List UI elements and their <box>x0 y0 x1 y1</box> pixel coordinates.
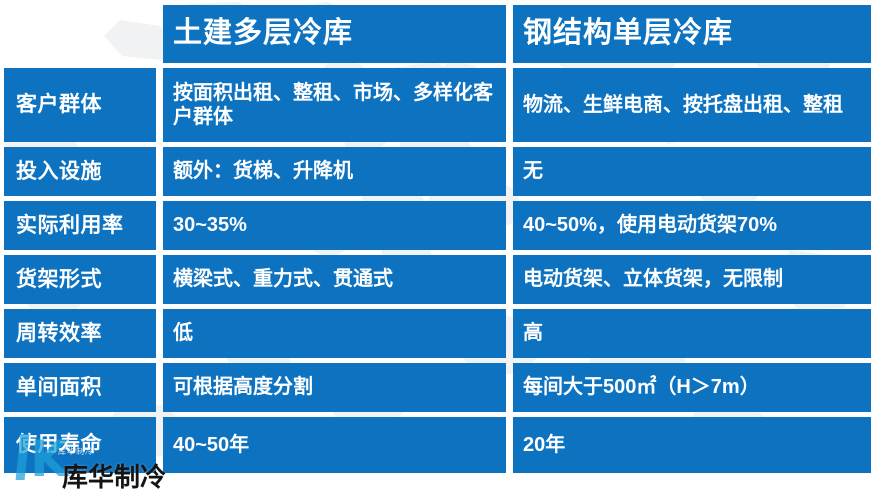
cell-room-area-steel: 每间大于500㎡（H＞7m） <box>513 363 871 412</box>
header-corner-cell <box>4 5 156 63</box>
cell-facility-investment-concrete: 额外：货梯、升降机 <box>163 147 506 196</box>
row-label-facility-investment: 投入设施 <box>4 147 156 196</box>
header-col-concrete: 土建多层冷库 <box>163 5 506 63</box>
cell-turnover-efficiency-steel: 高 <box>513 309 871 358</box>
header-col-steel: 钢结构单层冷库 <box>513 5 871 63</box>
row-label-room-area: 单间面积 <box>4 363 156 412</box>
cell-turnover-efficiency-concrete: 低 <box>163 309 506 358</box>
row-label-service-life: 使用寿命 <box>4 417 156 473</box>
row-label-customer-group: 客户群体 <box>4 68 156 142</box>
cell-room-area-concrete: 可根据高度分割 <box>163 363 506 412</box>
cell-facility-investment-steel: 无 <box>513 147 871 196</box>
cell-rack-type-steel: 电动货架、立体货架，无限制 <box>513 255 871 304</box>
cell-service-life-steel: 20年 <box>513 417 871 473</box>
cell-customer-group-concrete: 按面积出租、整租、市场、多样化客户群体 <box>163 68 506 142</box>
row-label-rack-type: 货架形式 <box>4 255 156 304</box>
cell-rack-type-concrete: 横梁式、重力式、贯通式 <box>163 255 506 304</box>
cell-customer-group-steel: 物流、生鲜电商、按托盘出租、整租 <box>513 68 871 142</box>
row-label-turnover-efficiency: 周转效率 <box>4 309 156 358</box>
comparison-table: 土建多层冷库 钢结构单层冷库 客户群体 按面积出租、整租、市场、多样化客户群体 … <box>0 0 872 492</box>
row-label-utilization-rate: 实际利用率 <box>4 201 156 250</box>
cell-utilization-rate-concrete: 30~35% <box>163 201 506 250</box>
cell-utilization-rate-steel: 40~50%，使用电动货架70% <box>513 201 871 250</box>
slide-canvas: 土建多层冷库 钢结构单层冷库 客户群体 按面积出租、整租、市场、多样化客户群体 … <box>0 0 872 492</box>
cell-service-life-concrete: 40~50年 <box>163 417 506 473</box>
